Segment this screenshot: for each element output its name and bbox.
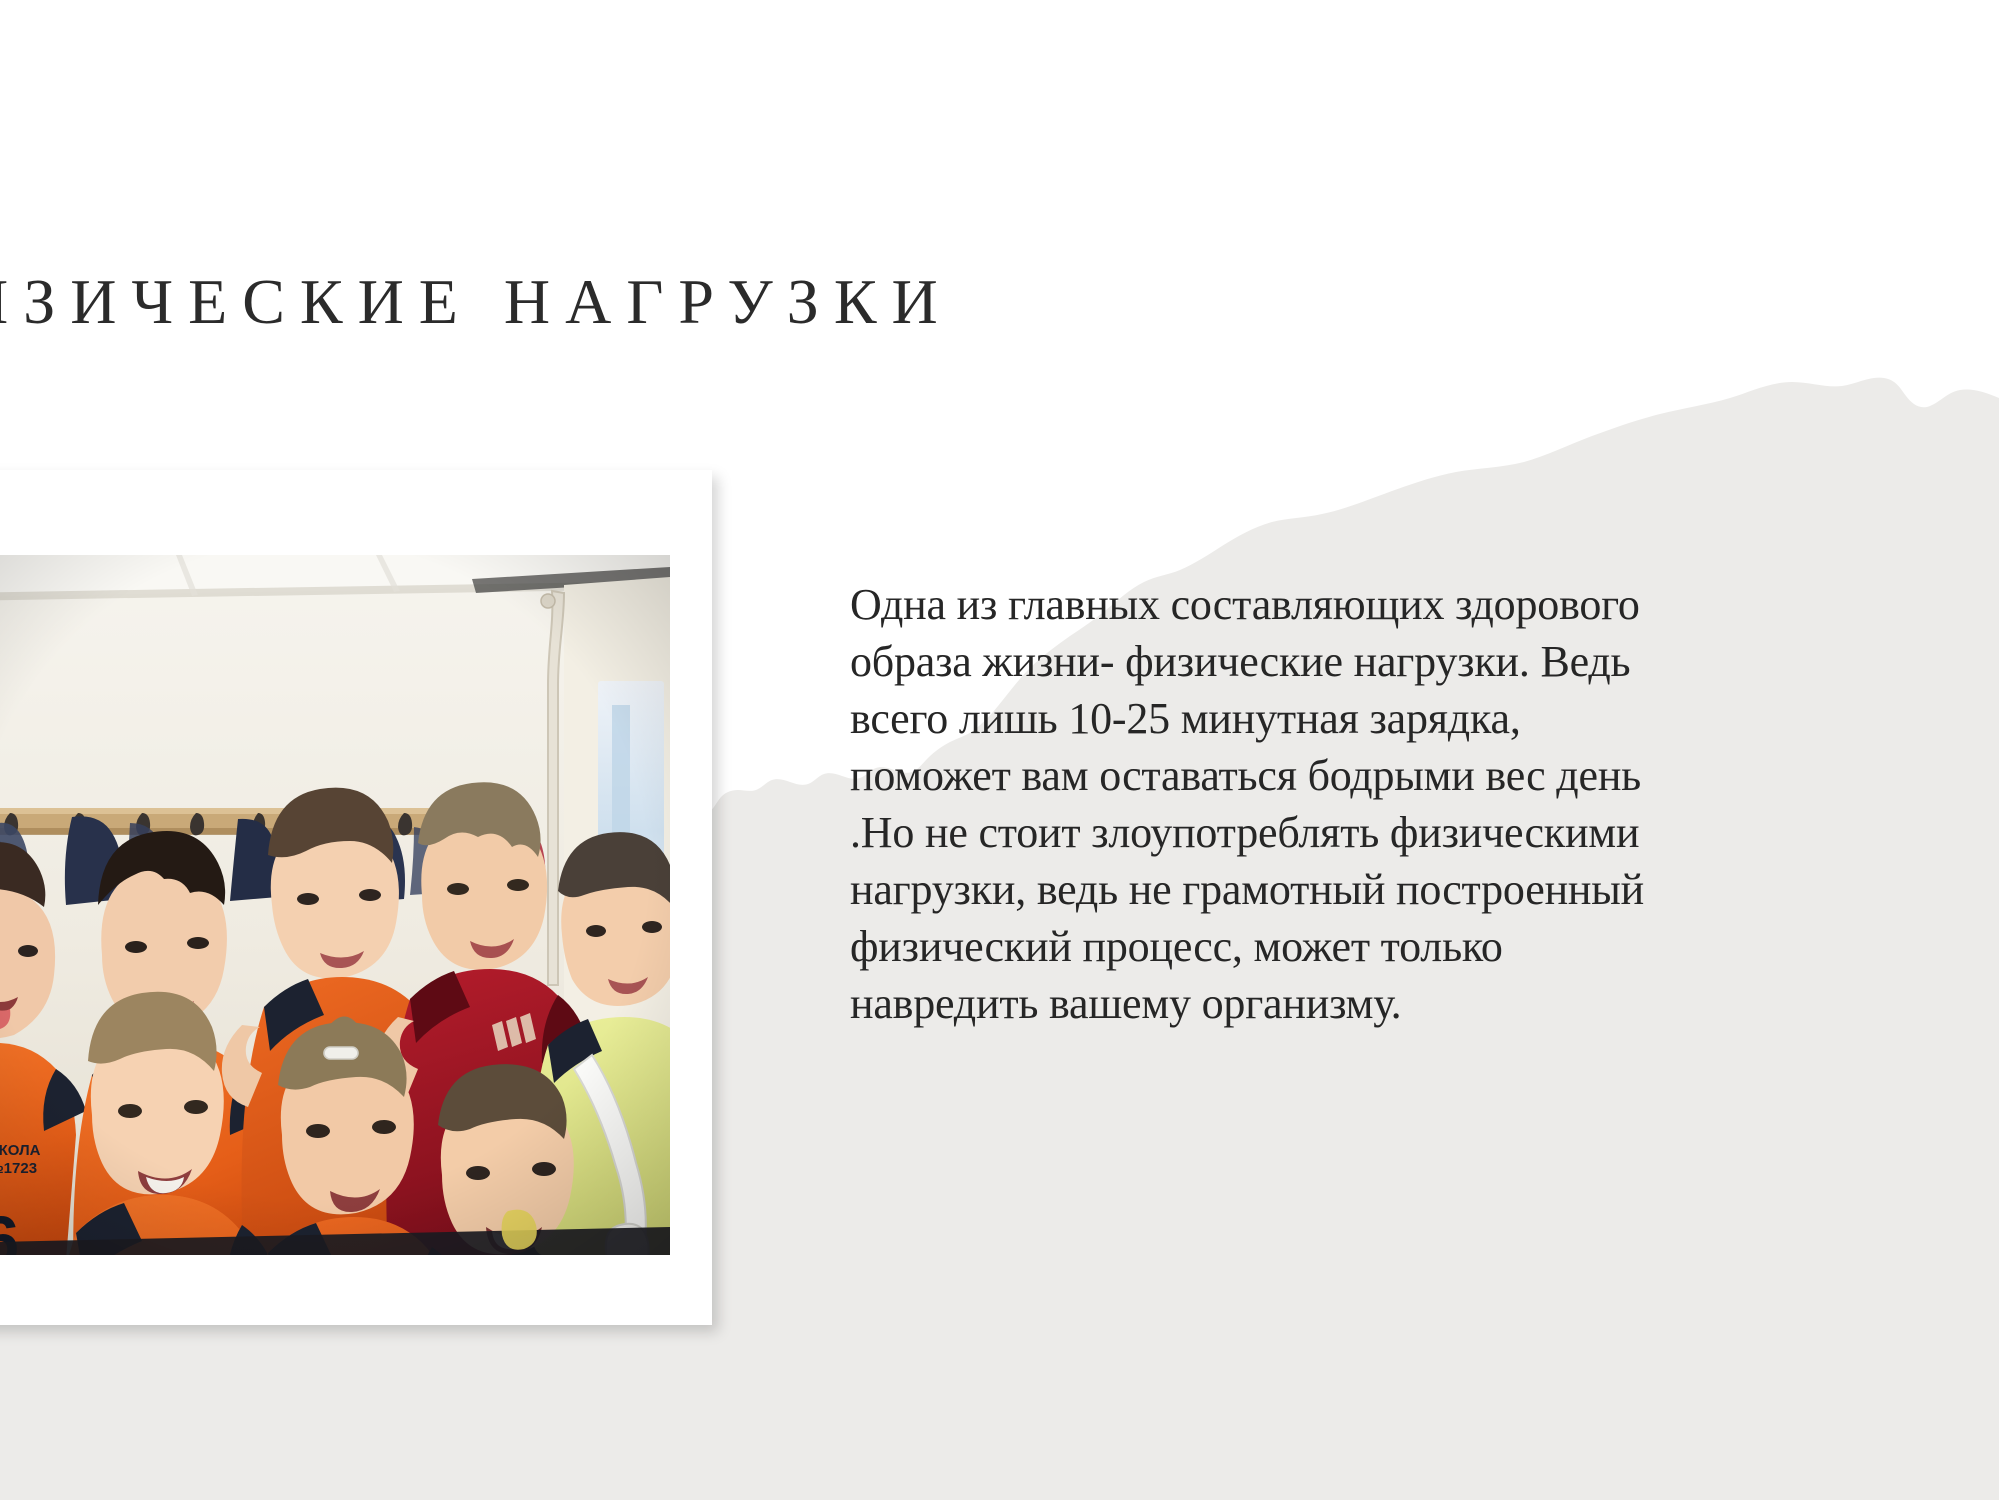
presentation-slide: ИЗИЧЕСКИЕ НАГРУЗКИ [0, 0, 1999, 1500]
photo-card: 6 ШКОЛА №1723 [0, 470, 712, 1325]
body-paragraph: Одна из главных составляющих здорового о… [850, 576, 1999, 1032]
page-title: ИЗИЧЕСКИЕ НАГРУЗКИ [0, 265, 953, 339]
team-photo: 6 ШКОЛА №1723 [0, 555, 670, 1255]
photo-frame: 6 ШКОЛА №1723 [0, 555, 670, 1255]
